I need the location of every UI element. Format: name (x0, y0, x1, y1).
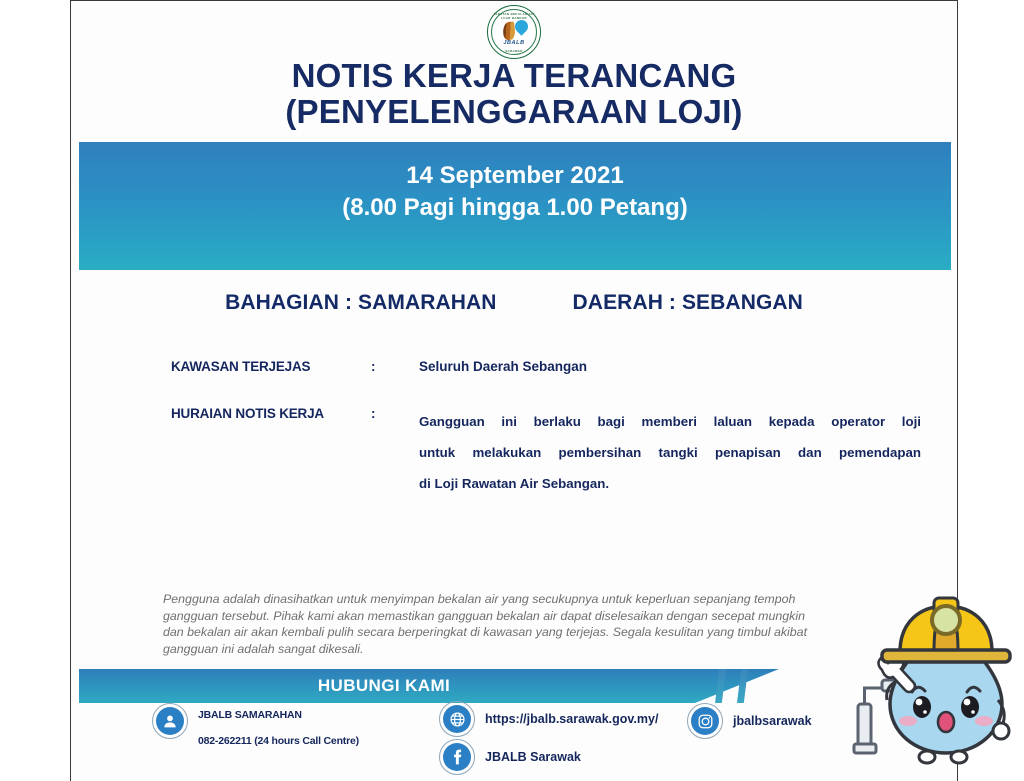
daerah-label: DAERAH : SEBANGAN (573, 291, 803, 315)
mascot-hand-right (993, 723, 1009, 739)
logo-arc-top-text: JABATAN BEKALAN AIR LUAR BANDAR (488, 12, 540, 20)
work-description-line-1: Gangguan ini berlaku bagi memberi laluan… (419, 406, 921, 437)
logo-label: JBALB (488, 40, 540, 46)
instagram-icon (691, 707, 719, 735)
title-line-1: NOTIS KERJA TERANCANG (71, 58, 957, 94)
office-phone[interactable]: 082-262211 (24 hours Call Centre) (198, 735, 359, 747)
helmet-lamp-icon (932, 606, 960, 634)
logo-arc-bottom-text: SARAWAK (488, 49, 540, 53)
notice-document: JABATAN BEKALAN AIR LUAR BANDAR JBALB SA… (70, 0, 958, 781)
facebook-row[interactable]: JBALB Sarawak (443, 743, 658, 771)
office-name: JBALB SAMARAHAN (198, 709, 359, 721)
work-description-row: HURAIAN NOTIS KERJA : Gangguan ini berla… (171, 406, 921, 500)
website-row[interactable]: https://jbalb.sarawak.gov.my/ (443, 705, 658, 733)
region-row: BAHAGIAN : SAMARAHAN DAERAH : SEBANGAN (71, 291, 957, 315)
instagram-handle[interactable]: jbalbsarawak (733, 714, 812, 728)
contact-bar-container: HUBUNGI KAMI (79, 669, 951, 703)
title-line-2: (PENYELENGGARAAN LOJI) (71, 94, 957, 130)
page-title: NOTIS KERJA TERANCANG (PENYELENGGARAAN L… (71, 58, 957, 131)
jbalb-logo: JABATAN BEKALAN AIR LUAR BANDAR JBALB SA… (487, 5, 541, 59)
notice-time: (8.00 Pagi hingga 1.00 Petang) (342, 192, 687, 224)
website-url[interactable]: https://jbalb.sarawak.gov.my/ (485, 712, 658, 726)
affected-area-label: KAWASAN TERJEJAS (171, 359, 371, 374)
water-droplet-mascot (846, 576, 1024, 776)
contact-bar-title: HUBUNGI KAMI (79, 676, 689, 696)
person-icon (156, 707, 184, 735)
bahagian-label: BAHAGIAN : SAMARAHAN (225, 291, 496, 315)
logo-container: JABATAN BEKALAN AIR LUAR BANDAR JBALB SA… (71, 5, 957, 59)
work-description-value: Gangguan ini berlaku bagi memberi laluan… (419, 406, 921, 500)
affected-area-value: Seluruh Daerah Sebangan (419, 359, 919, 374)
contact-web-social: https://jbalb.sarawak.gov.my/ JBALB Sara… (443, 705, 658, 771)
advisory-paragraph: Pengguna adalah dinasihatkan untuk menyi… (163, 591, 811, 657)
notice-date: 14 September 2021 (406, 160, 623, 192)
work-description-line-3: di Loji Rawatan Air Sebangan. (419, 468, 921, 499)
contact-bar: HUBUNGI KAMI (79, 669, 779, 703)
facebook-handle[interactable]: JBALB Sarawak (485, 750, 581, 764)
facebook-icon (443, 743, 471, 771)
work-description-label: HURAIAN NOTIS KERJA (171, 406, 371, 500)
affected-area-row: KAWASAN TERJEJAS : Seluruh Daerah Sebang… (171, 359, 919, 374)
contact-instagram[interactable]: jbalbsarawak (691, 707, 812, 735)
work-description-colon: : (371, 406, 419, 500)
contact-office: JBALB SAMARAHAN 082-262211 (24 hours Cal… (156, 707, 359, 747)
hard-hat (882, 598, 1010, 662)
date-banner: 14 September 2021 (8.00 Pagi hingga 1.00… (79, 142, 951, 270)
affected-area-colon: : (371, 359, 419, 374)
globe-icon (443, 705, 471, 733)
work-description-line-2: untuk melakukan pembersihan tangki penap… (419, 437, 921, 468)
